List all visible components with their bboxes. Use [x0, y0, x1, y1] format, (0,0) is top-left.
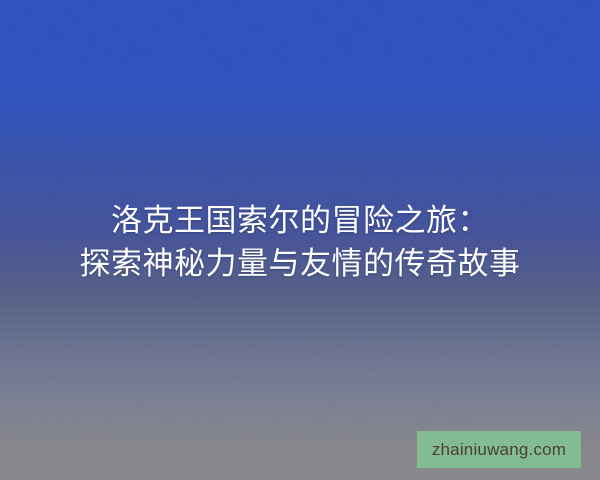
cover-image: 洛克王国索尔的冒险之旅：探索神秘力量与友情的传奇故事 zhainiuwang.c… — [0, 0, 600, 480]
title-block: 洛克王国索尔的冒险之旅：探索神秘力量与友情的传奇故事 — [28, 200, 572, 286]
page-title: 洛克王国索尔的冒险之旅：探索神秘力量与友情的传奇故事 — [28, 200, 572, 286]
watermark-badge: zhainiuwang.com — [417, 431, 581, 468]
watermark-label: zhainiuwang.com — [432, 441, 566, 458]
